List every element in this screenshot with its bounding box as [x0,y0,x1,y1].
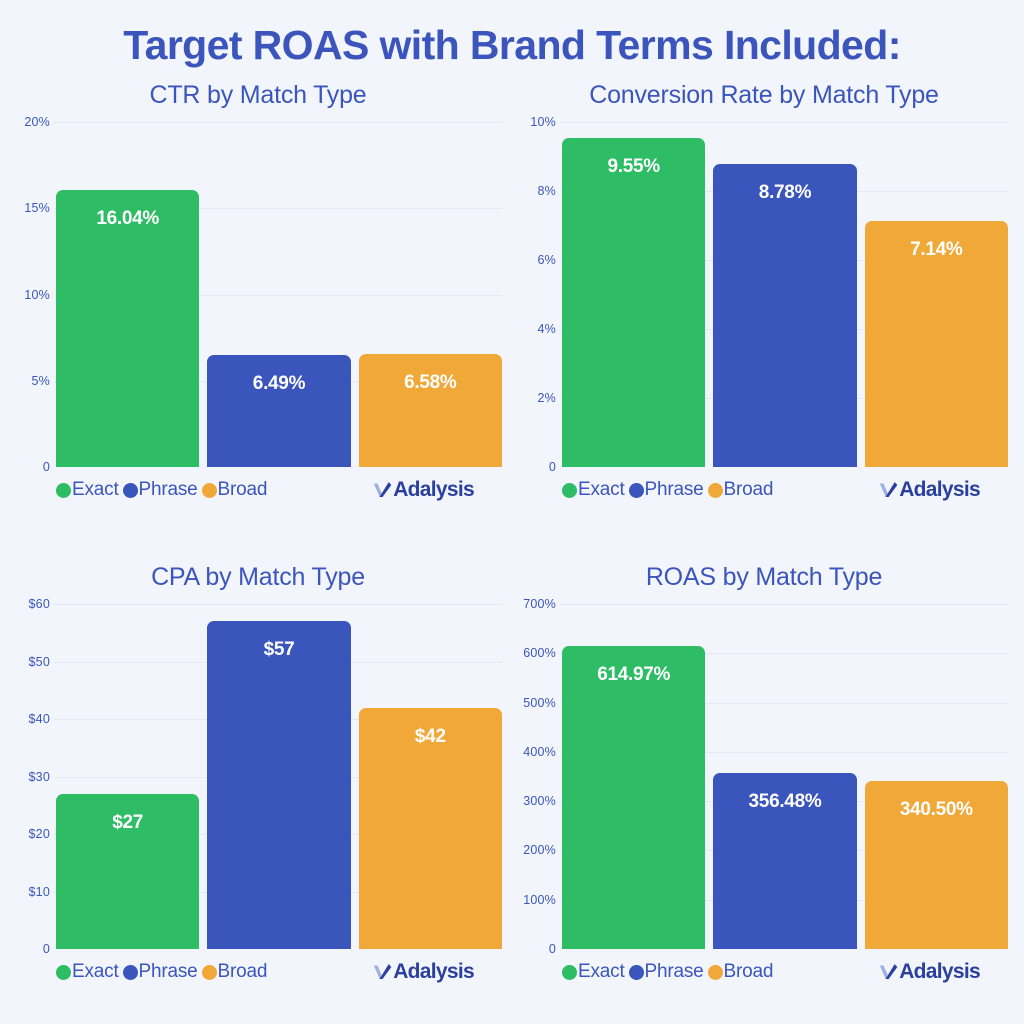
legend: ExactPhraseBroad [56,479,271,501]
legend-item-phrase[interactable]: Phrase [123,479,202,501]
bar-value-label: 8.78% [713,182,856,204]
bar-slot-phrase: 6.49% [207,122,350,467]
y-axis-tick: $60 [29,597,50,611]
legend-swatch-icon [202,965,217,980]
legend-label: Exact [578,961,625,983]
legend-swatch-icon [708,965,723,980]
plot-area: 700%600%500%400%300%200%100%0614.97%356.… [514,604,1014,949]
legend-label: Phrase [645,961,704,983]
adalysis-a-mark-icon [878,962,898,982]
y-axis-tick: 10% [530,115,556,129]
y-axis-tick: 10% [24,288,50,302]
bar-slot-exact: 9.55% [562,122,705,467]
bar-broad[interactable]: 6.58% [359,354,502,468]
y-axis-tick: $50 [29,655,50,669]
bar-value-label: $57 [207,639,350,661]
y-axis-tick: 4% [538,322,556,336]
y-axis-tick: 300% [523,794,556,808]
bar-slot-phrase: 8.78% [713,122,856,467]
legend-item-broad[interactable]: Broad [708,479,778,501]
bar-value-label: 9.55% [562,156,705,178]
infographic-root: Target ROAS with Brand Terms Included: C… [0,0,1024,1024]
legend-label: Exact [72,479,119,501]
y-axis-tick: 500% [523,696,556,710]
y-axis-tick: 2% [538,391,556,405]
legend-row: ExactPhraseBroadAdalysis [514,957,1014,987]
y-axis: $60$50$40$30$20$100 [8,604,54,949]
adalysis-a-mark-icon [878,480,898,500]
chart-title: Conversion Rate by Match Type [514,78,1014,112]
y-axis-tick: $10 [29,885,50,899]
y-axis-tick: 0 [549,460,556,474]
legend-item-broad[interactable]: Broad [708,961,778,983]
legend-label: Broad [724,479,774,501]
plot-area: 20%15%10%5%016.04%6.49%6.58% [8,122,508,467]
legend-label: Phrase [139,961,198,983]
bar-value-label: 6.49% [207,373,350,395]
legend-row: ExactPhraseBroadAdalysis [8,475,508,505]
plot-area: 10%8%6%4%2%09.55%8.78%7.14% [514,122,1014,467]
y-axis-tick: $40 [29,712,50,726]
legend-swatch-icon [708,483,723,498]
bar-phrase[interactable]: 6.49% [207,355,350,467]
bar-exact[interactable]: 614.97% [562,646,705,949]
adalysis-logo: Adalysis [878,478,980,502]
adalysis-a-mark-icon [372,480,392,500]
bar-slot-broad: 6.58% [359,122,502,467]
y-axis-tick: 5% [32,374,50,388]
y-axis-tick: 600% [523,646,556,660]
bar-slot-broad: 7.14% [865,122,1008,467]
legend: ExactPhraseBroad [56,961,271,983]
chart-title: ROAS by Match Type [514,560,1014,594]
chart-panel-0: CTR by Match Type20%15%10%5%016.04%6.49%… [8,78,508,518]
bar-value-label: 356.48% [713,791,856,813]
adalysis-logo: Adalysis [372,478,474,502]
bar-slot-broad: 340.50% [865,604,1008,949]
adalysis-wordmark: Adalysis [899,478,980,502]
legend-item-exact[interactable]: Exact [562,961,629,983]
bar-value-label: $42 [359,726,502,748]
y-axis-tick: 15% [24,201,50,215]
bar-value-label: 7.14% [865,239,1008,261]
adalysis-wordmark: Adalysis [393,960,474,984]
legend-swatch-icon [123,965,138,980]
bar-value-label: 614.97% [562,664,705,686]
chart-title: CPA by Match Type [8,560,508,594]
legend-swatch-icon [123,483,138,498]
y-axis: 20%15%10%5%0 [8,122,54,467]
bar-slot-exact: 614.97% [562,604,705,949]
legend-swatch-icon [56,965,71,980]
bar-slot-phrase: $57 [207,604,350,949]
bar-series: 9.55%8.78%7.14% [562,122,1008,467]
bar-exact[interactable]: $27 [56,794,199,949]
legend-swatch-icon [629,483,644,498]
y-axis: 700%600%500%400%300%200%100%0 [514,604,560,949]
bar-exact[interactable]: 9.55% [562,138,705,467]
y-axis-tick: 700% [523,597,556,611]
legend-item-exact[interactable]: Exact [56,479,123,501]
legend-swatch-icon [562,483,577,498]
y-axis-tick: 6% [538,253,556,267]
chart-title: CTR by Match Type [8,78,508,112]
page-title: Target ROAS with Brand Terms Included: [0,22,1024,69]
chart-panel-1: Conversion Rate by Match Type10%8%6%4%2%… [514,78,1014,518]
legend-item-broad[interactable]: Broad [202,961,272,983]
y-axis: 10%8%6%4%2%0 [514,122,560,467]
adalysis-wordmark: Adalysis [393,478,474,502]
bar-series: $27$57$42 [56,604,502,949]
legend-item-phrase[interactable]: Phrase [629,961,708,983]
legend-item-broad[interactable]: Broad [202,479,272,501]
legend-row: ExactPhraseBroadAdalysis [8,957,508,987]
bar-series: 16.04%6.49%6.58% [56,122,502,467]
bar-slot-phrase: 356.48% [713,604,856,949]
legend-swatch-icon [202,483,217,498]
chart-panel-2: CPA by Match Type$60$50$40$30$20$100$27$… [8,560,508,1000]
legend-label: Broad [218,479,268,501]
legend: ExactPhraseBroad [562,961,777,983]
legend-swatch-icon [562,965,577,980]
y-axis-tick: 0 [43,460,50,474]
bar-broad[interactable]: $42 [359,708,502,950]
y-axis-tick: 400% [523,745,556,759]
adalysis-logo: Adalysis [878,960,980,984]
legend-swatch-icon [56,483,71,498]
bar-series: 614.97%356.48%340.50% [562,604,1008,949]
bar-phrase[interactable]: $57 [207,621,350,949]
bar-slot-exact: 16.04% [56,122,199,467]
y-axis-tick: 8% [538,184,556,198]
chart-grid: CTR by Match Type20%15%10%5%016.04%6.49%… [0,78,1024,1024]
chart-panel-3: ROAS by Match Type700%600%500%400%300%20… [514,560,1014,1000]
y-axis-tick: 200% [523,843,556,857]
y-axis-tick: 0 [43,942,50,956]
legend-label: Exact [578,479,625,501]
legend-label: Broad [218,961,268,983]
y-axis-tick: $30 [29,770,50,784]
bar-slot-broad: $42 [359,604,502,949]
bar-value-label: 340.50% [865,799,1008,821]
bar-broad[interactable]: 340.50% [865,781,1008,949]
legend-item-exact[interactable]: Exact [562,479,629,501]
legend-label: Broad [724,961,774,983]
legend-label: Phrase [645,479,704,501]
adalysis-wordmark: Adalysis [899,960,980,984]
legend-label: Exact [72,961,119,983]
bar-slot-exact: $27 [56,604,199,949]
bar-phrase[interactable]: 356.48% [713,773,856,949]
bar-value-label: 16.04% [56,208,199,230]
y-axis-tick: 20% [24,115,50,129]
bar-broad[interactable]: 7.14% [865,221,1008,467]
bar-value-label: $27 [56,812,199,834]
legend-row: ExactPhraseBroadAdalysis [514,475,1014,505]
legend-item-exact[interactable]: Exact [56,961,123,983]
bar-exact[interactable]: 16.04% [56,190,199,467]
y-axis-tick: $20 [29,827,50,841]
legend-item-phrase[interactable]: Phrase [629,479,708,501]
legend-swatch-icon [629,965,644,980]
y-axis-tick: 100% [523,893,556,907]
y-axis-tick: 0 [549,942,556,956]
adalysis-logo: Adalysis [372,960,474,984]
legend-label: Phrase [139,479,198,501]
bar-value-label: 6.58% [359,372,502,394]
bar-phrase[interactable]: 8.78% [713,164,856,467]
adalysis-a-mark-icon [372,962,392,982]
legend-item-phrase[interactable]: Phrase [123,961,202,983]
legend: ExactPhraseBroad [562,479,777,501]
plot-area: $60$50$40$30$20$100$27$57$42 [8,604,508,949]
